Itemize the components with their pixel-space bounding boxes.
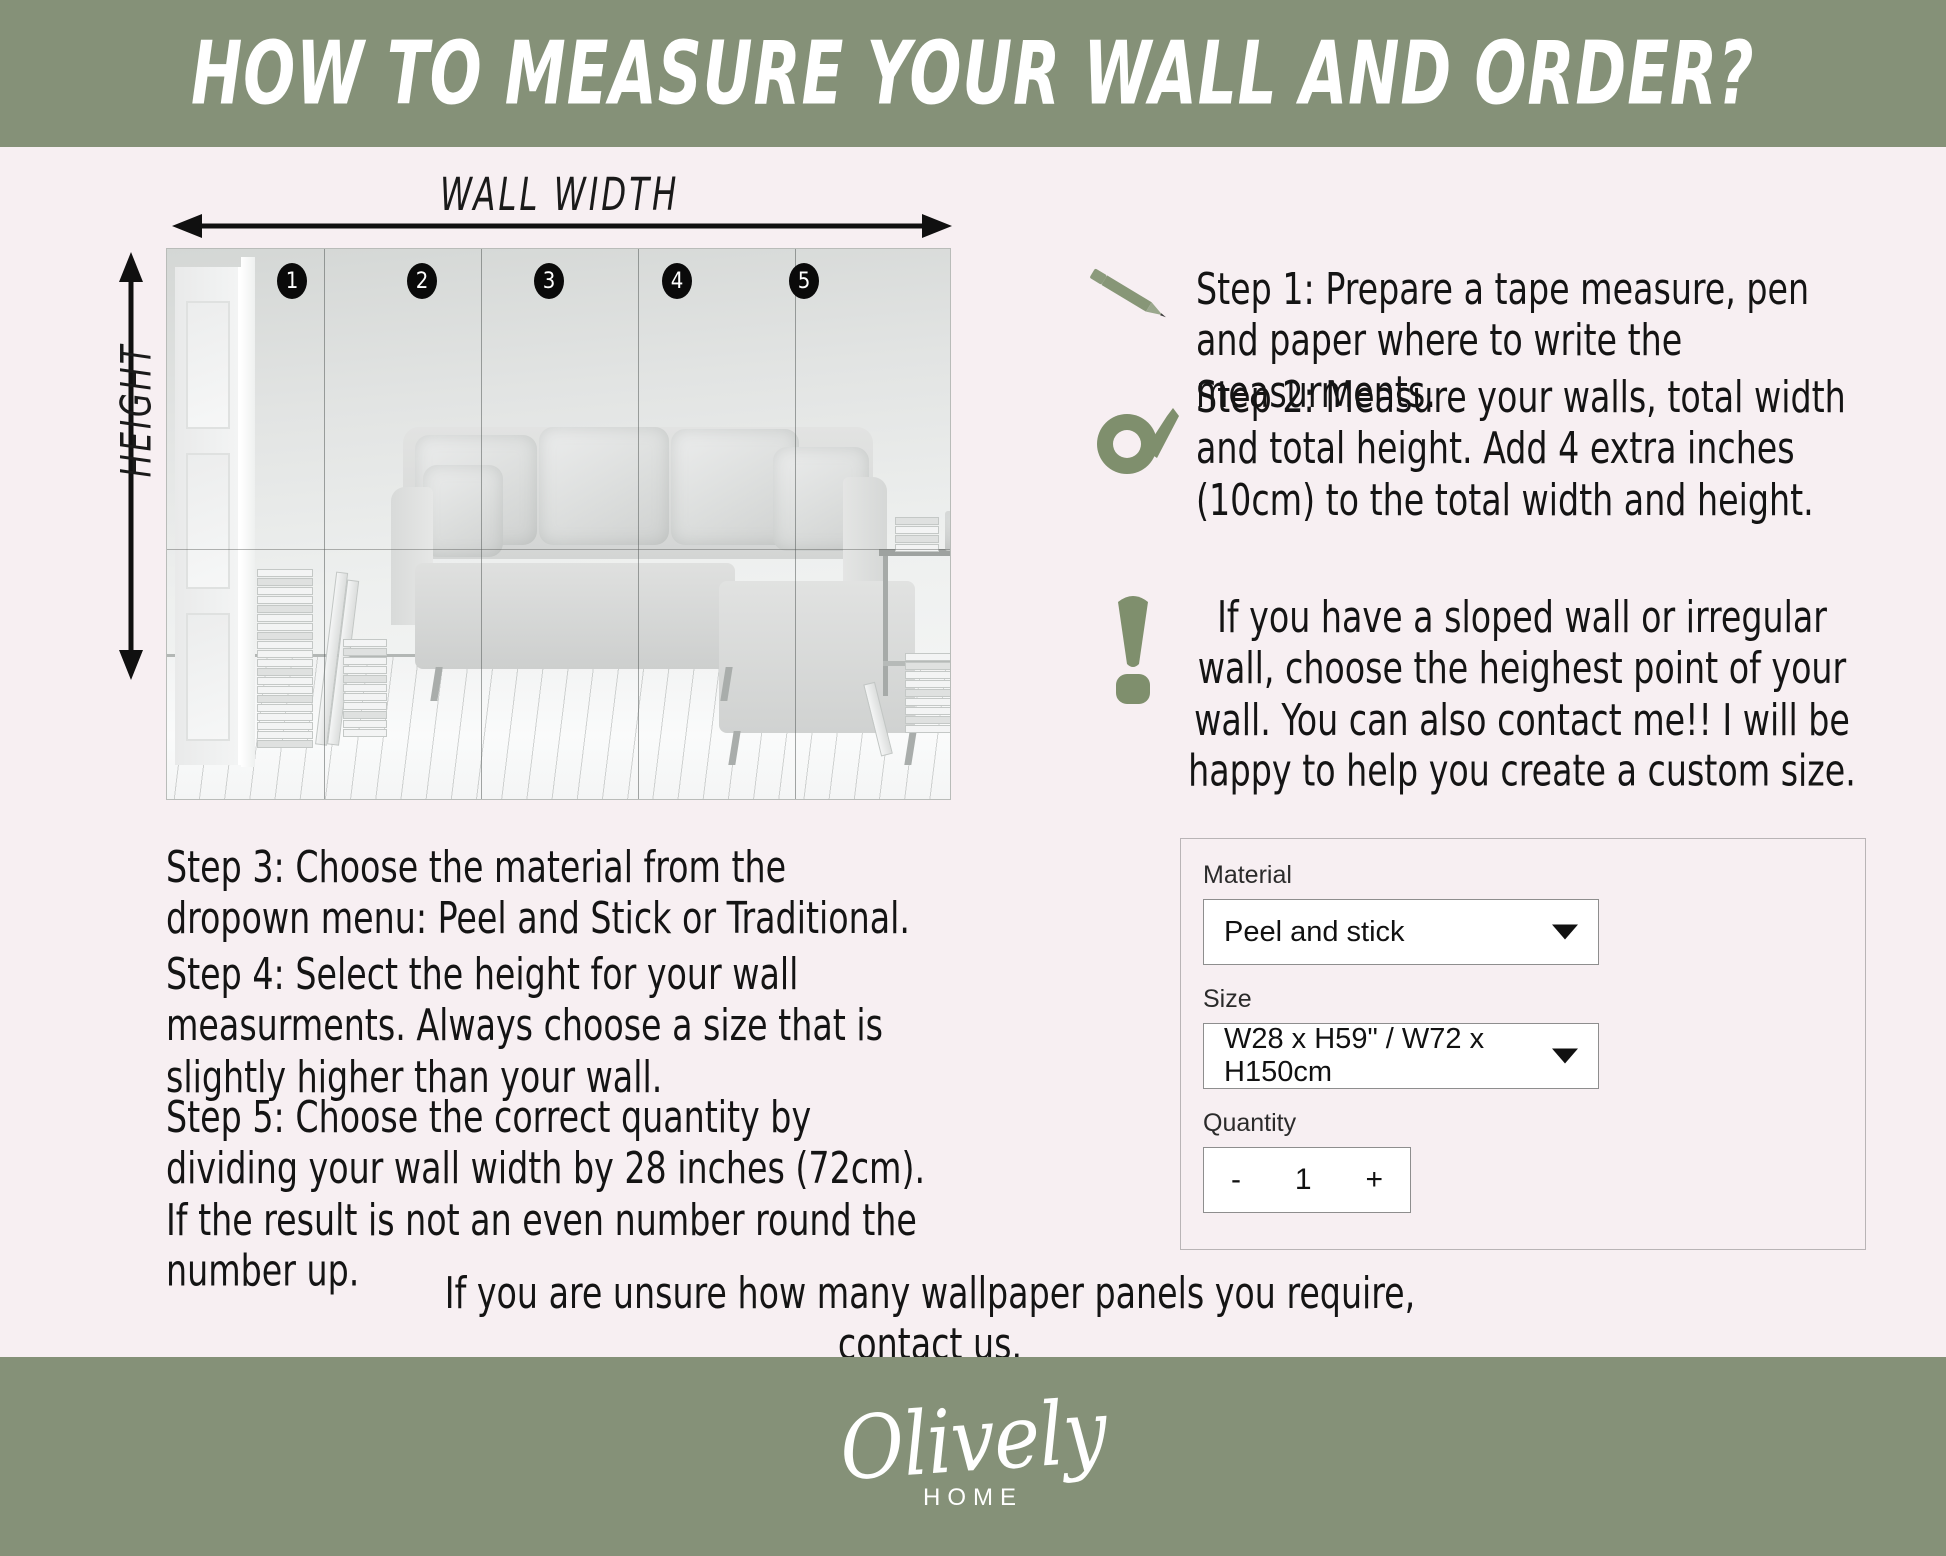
header-bar: HOW TO MEASURE YOUR WALL AND ORDER?	[0, 0, 1946, 147]
table-object-books	[895, 517, 939, 553]
wall-preview-image: 1 2 3 4 5	[166, 248, 951, 800]
door-panel	[186, 301, 230, 429]
material-select[interactable]: Peel and stick	[1203, 899, 1599, 965]
door-panel	[186, 453, 230, 589]
panel-number-badge: 2	[407, 263, 437, 299]
panel-number-badge: 1	[277, 263, 307, 299]
size-select[interactable]: W28 x H59" / W72 x H150cm	[1203, 1023, 1599, 1089]
brand-logo: Olively	[837, 1388, 1109, 1494]
quantity-decrement-button[interactable]: -	[1231, 1163, 1241, 1197]
wall-width-arrow-icon	[172, 213, 952, 239]
footer-bar: Olively HOME	[0, 1357, 1946, 1556]
quantity-increment-button[interactable]: +	[1365, 1163, 1383, 1197]
pencil-icon	[1080, 262, 1176, 328]
table-object-vase	[945, 511, 951, 551]
infographic-page: HOW TO MEASURE YOUR WALL AND ORDER? WALL…	[0, 0, 1946, 1556]
material-selected-value: Peel and stick	[1224, 916, 1405, 949]
door-panel	[186, 613, 230, 741]
page-title: HOW TO MEASURE YOUR WALL AND ORDER?	[191, 23, 1755, 124]
panel-number-badge: 5	[789, 263, 819, 299]
step-2-text: Step 2: Measure your walls, total width …	[1196, 372, 1876, 525]
material-label: Material	[1203, 861, 1865, 890]
chevron-down-icon[interactable]	[1552, 1049, 1578, 1064]
panel-divider	[481, 249, 482, 799]
size-label: Size	[1203, 985, 1865, 1014]
panel-number-badge: 4	[662, 263, 692, 299]
tape-measure-icon	[1093, 398, 1189, 480]
book-stack	[343, 639, 387, 738]
panel-divider	[795, 249, 796, 799]
panel-divider	[638, 249, 639, 799]
quantity-label: Quantity	[1203, 1109, 1865, 1138]
quantity-value[interactable]: 1	[1295, 1163, 1312, 1197]
door-jamb	[241, 257, 255, 767]
order-options-panel: Material Peel and stick Size W28 x H59" …	[1180, 838, 1866, 1250]
panel-divider	[324, 249, 325, 799]
closing-note: If you are unsure how many wallpaper pan…	[430, 1268, 1430, 1370]
door	[175, 267, 241, 765]
warning-text: If you have a sloped wall or irregular w…	[1184, 592, 1860, 796]
panel-number-badge: 3	[534, 263, 564, 299]
step-4-text: Step 4: Select the height for your wall …	[166, 949, 926, 1102]
book-stack	[905, 653, 951, 734]
chevron-down-icon[interactable]	[1552, 925, 1578, 940]
throw-pillow	[423, 465, 503, 557]
book-stack	[257, 569, 313, 749]
size-selected-value: W28 x H59" / W72 x H150cm	[1224, 1023, 1598, 1089]
step-3-text: Step 3: Choose the material from the dro…	[166, 842, 926, 944]
closing-text: If you are unsure how many wallpaper pan…	[445, 1268, 1415, 1319]
exclamation-icon	[1106, 586, 1160, 706]
panel-horizontal-seam	[167, 549, 950, 550]
sofa-seat	[415, 563, 735, 669]
wall-height-label: HEIGHT	[113, 325, 162, 495]
quantity-stepper[interactable]: - 1 +	[1203, 1147, 1411, 1213]
side-table-leg	[883, 556, 888, 696]
step-5-text: Step 5: Choose the correct quantity by d…	[166, 1092, 926, 1296]
sofa-cushion	[539, 427, 669, 545]
